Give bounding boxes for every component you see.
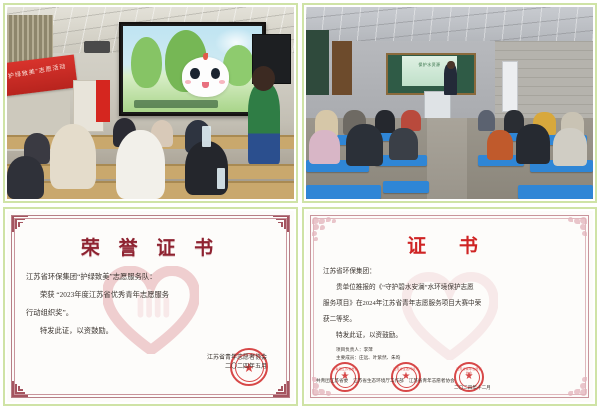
- certificate-body-line-3: 获二等奖。: [323, 314, 576, 326]
- air-conditioner: [502, 61, 518, 113]
- student-desk: [306, 185, 381, 198]
- certificate-award: 证 书 江苏省环保集团： 贵单位推报的《“守护碧水安澜”水环境保护志愿 服务项目…: [306, 211, 593, 403]
- mascot-eye: [190, 68, 199, 79]
- water-drop-mascot-icon: [182, 57, 229, 97]
- certificate-body-line-2: 服务项目》在2024年江苏省青年志愿服务项目大赛中荣: [323, 298, 576, 310]
- student-silhouette: [516, 124, 550, 164]
- official-seal: 江苏省生态环境厅 ★: [391, 362, 421, 392]
- screen-subtitle-bar: [134, 100, 218, 108]
- certificate-issuer-2: 江苏省生态环境厅工作部: [353, 378, 404, 384]
- certificate-content: 荣 誉 证 书 江苏省环保集团“护绿致美”志愿服务队： 荣获 “2023年度江苏…: [18, 222, 283, 392]
- certificate-recipient: 江苏省环保集团：: [323, 266, 576, 278]
- certificate-closing: 特发此证，以资鼓励。: [323, 330, 576, 342]
- window: [306, 30, 329, 95]
- certificate-honor: 荣 誉 证 书 江苏省环保集团“护绿致美”志愿服务队： 荣获 “2023年度江苏…: [7, 211, 294, 403]
- certificate-recipient: 江苏省环保集团“护绿致美”志愿服务队：: [26, 270, 275, 284]
- certificate-body-line-2: 行动组织奖”。: [26, 306, 275, 320]
- certificate-signature-block: 江苏省青年志愿者协会 二〇二四年五月: [18, 354, 283, 371]
- seal-label: 江苏省生态环境厅: [393, 367, 419, 371]
- certificate-body: 江苏省环保集团： 贵单位推报的《“守护碧水安澜”水环境保护志愿 服务项目》在20…: [317, 266, 582, 363]
- mascot-blush: [185, 80, 191, 84]
- child-silhouette: [116, 130, 165, 199]
- certificate-issuer-1: 共青团江苏省委: [316, 378, 348, 384]
- student-silhouette: [553, 128, 587, 166]
- ceiling: [306, 7, 593, 45]
- student-desk: [383, 181, 429, 192]
- student-silhouette: [346, 124, 383, 166]
- seal-label: 共青团江苏省委员会: [332, 367, 358, 375]
- mascot-eye: [211, 68, 220, 79]
- official-seal: 共青团江苏省委员会 ★: [330, 362, 360, 392]
- water-bottle: [217, 168, 226, 189]
- red-flag-icon: [96, 80, 110, 122]
- doorway: [332, 41, 352, 95]
- certificate-members: 主要成员：庄远、叶紫然、朱昀: [323, 354, 576, 362]
- projector-icon: [84, 41, 110, 52]
- event-banner-label: "护绿致美"志愿活动: [7, 61, 68, 81]
- certificate-date: 二〇二四年十二月: [454, 385, 534, 391]
- mascot-mouth: [202, 82, 209, 88]
- student-desk: [518, 185, 593, 198]
- projection-screen: [119, 22, 267, 116]
- certificate-cell-award[interactable]: 证 书 江苏省环保集团： 贵单位推报的《“守护碧水安澜”水环境保护志愿 服务项目…: [302, 207, 597, 407]
- certificate-body-line-1: 贵单位推报的《“守护碧水安澜”水环境保护志愿: [323, 282, 576, 294]
- student-silhouette: [309, 130, 341, 164]
- certificate-body: 江苏省环保集团“护绿致美”志愿服务队： 荣获 “2023年度江苏省优秀青年志愿服…: [18, 270, 283, 343]
- aisle: [427, 118, 467, 198]
- certificate-date: 二〇二四年五月: [18, 363, 267, 372]
- water-bottle: [202, 126, 211, 147]
- projected-cartoon: [123, 26, 263, 112]
- certificate-issuer: 江苏省青年志愿者协会: [18, 354, 267, 363]
- child-silhouette: [50, 124, 96, 189]
- photo-cell-classroom-projection[interactable]: "护绿致美"志愿活动: [3, 3, 298, 203]
- photo-cell-lecture-hall[interactable]: 保护水资源: [302, 3, 597, 203]
- volunteer-presenter: [248, 84, 280, 164]
- certificate-project-leader: 项目负责人：李萍: [323, 346, 576, 354]
- photo-classroom-projection: "护绿致美"志愿活动: [7, 7, 294, 199]
- student-silhouette: [478, 110, 495, 131]
- certificate-closing: 特发此证，以资鼓励。: [26, 324, 275, 338]
- certificate-cell-honor[interactable]: 荣 誉 证 书 江苏省环保集团“护绿致美”志愿服务队： 荣获 “2023年度江苏…: [3, 207, 298, 407]
- speaker-head: [447, 61, 454, 69]
- child-silhouette: [7, 156, 44, 198]
- seal-label: 江苏省青年志愿者协会: [456, 367, 482, 375]
- speaker-silhouette: [444, 64, 457, 95]
- student-silhouette: [487, 130, 513, 161]
- tree-shape: [131, 37, 162, 89]
- certificate-issuer-3: 江苏省青年志愿者协会: [409, 378, 455, 384]
- mascot-blush: [219, 80, 225, 84]
- seals-row: 共青团江苏省委员会 ★ 江苏省生态环境厅 ★ 江苏省青年志愿者协会 ★ 共青团江…: [306, 362, 593, 398]
- certificate-title: 荣 誉 证 书: [18, 233, 283, 260]
- certificate-title: 证 书: [317, 231, 582, 258]
- photo-lecture-hall: 保护水资源: [306, 7, 593, 199]
- certificate-body-line-1: 荣获 “2023年度江苏省优秀青年志愿服务: [26, 288, 275, 302]
- student-silhouette: [389, 128, 418, 161]
- photo-collage: "护绿致美"志愿活动: [0, 0, 600, 409]
- sprout-icon: [203, 53, 208, 59]
